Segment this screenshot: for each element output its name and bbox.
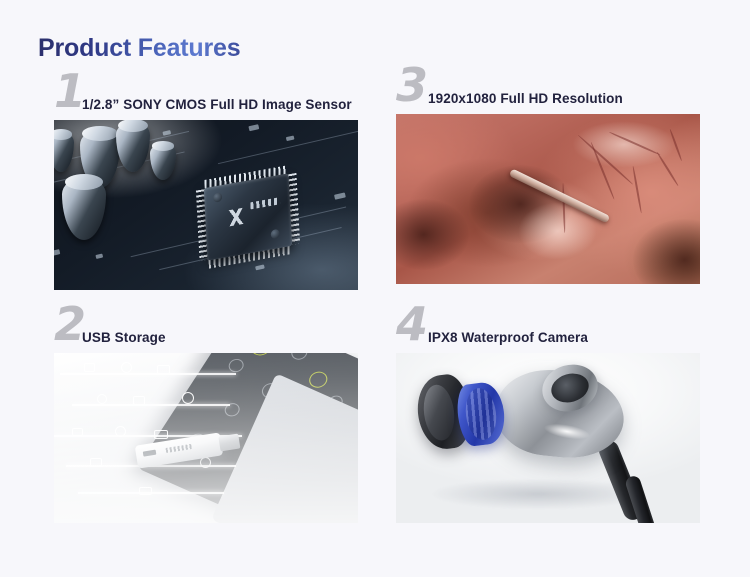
feature-4-header: 4 IPX8 Waterproof Camera xyxy=(396,305,702,353)
feature-4-number: 4 xyxy=(396,301,426,347)
feature-1-label: 1/2.8” SONY CMOS Full HD Image Sensor xyxy=(82,97,352,112)
feature-item-3: 3 1920x1080 Full HD Resolution xyxy=(396,66,702,284)
feature-4-label: IPX8 Waterproof Camera xyxy=(428,330,588,345)
feature-3-number: 3 xyxy=(396,62,426,108)
feature-item-4: 4 IPX8 Waterproof Camera xyxy=(396,305,702,523)
chip-logo-icon xyxy=(224,207,248,227)
feature-2-header: 2 USB Storage xyxy=(54,305,360,353)
feature-1-number: 1 xyxy=(54,68,84,114)
image-processor-chip xyxy=(194,163,301,272)
feature-grid: 1 1/2.8” SONY CMOS Full HD Image Sensor xyxy=(0,0,750,577)
waterproof-camera-head-photo xyxy=(396,353,700,523)
endoscopic-tissue-photo xyxy=(396,114,700,284)
feature-2-number: 2 xyxy=(54,301,84,347)
photo-haze-overlay xyxy=(54,353,358,523)
feature-1-header: 1 1/2.8” SONY CMOS Full HD Image Sensor xyxy=(54,72,360,120)
chip-marking xyxy=(250,197,280,209)
feature-item-2: 2 USB Storage xyxy=(54,305,360,523)
feature-3-header: 3 1920x1080 Full HD Resolution xyxy=(396,66,702,114)
feature-item-1: 1 1/2.8” SONY CMOS Full HD Image Sensor xyxy=(54,72,360,290)
feature-2-label: USB Storage xyxy=(82,330,166,345)
cmos-sensor-circuit-board-photo xyxy=(54,120,358,290)
usb-storage-photo xyxy=(54,353,358,523)
feature-3-label: 1920x1080 Full HD Resolution xyxy=(428,91,623,106)
